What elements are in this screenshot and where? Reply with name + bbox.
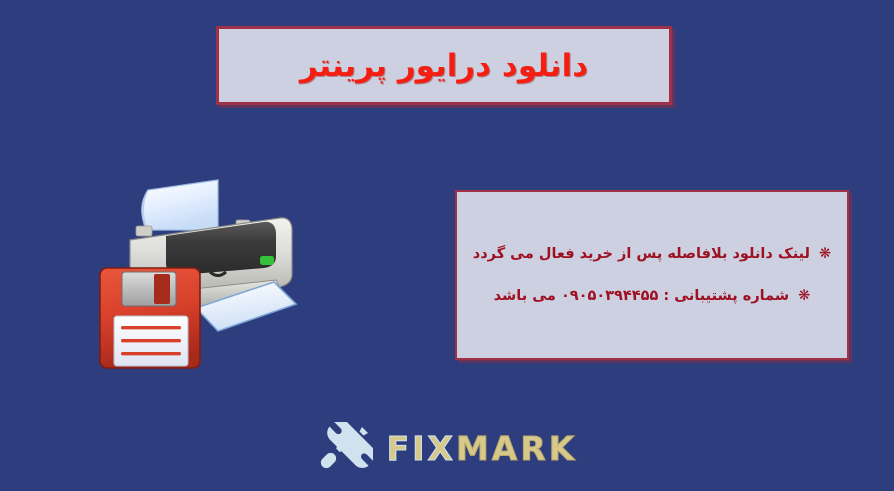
printer-input-paper xyxy=(142,180,218,230)
asterisk-icon: ❋ xyxy=(819,246,831,262)
brand-wordmark: FIX MARK xyxy=(387,432,578,465)
printer-power-led xyxy=(260,256,274,265)
brand-word-mark: MARK xyxy=(456,432,577,465)
printer-driver-illustration xyxy=(88,168,314,372)
wrench-screwdriver-icon xyxy=(317,422,373,474)
purchase-info-box: ❋ لینک دانلود بلافاصله پس از خرید فعال م… xyxy=(455,190,849,360)
info-line-support-phone-text: شماره پشتیبانی : ۰۹۰۵۰۳۹۴۴۵۵ می باشد xyxy=(494,288,789,304)
info-line-download-activation-text: لینک دانلود بلافاصله پس از خرید فعال می … xyxy=(473,246,810,262)
info-line-download-activation: ❋ لینک دانلود بلافاصله پس از خرید فعال م… xyxy=(473,246,831,262)
brand-footer: FIX MARK xyxy=(0,414,894,482)
brand-word-fix: FIX xyxy=(387,432,456,465)
slide-canvas: دانلود درایور پرینتر xyxy=(0,0,894,491)
title-banner: دانلود درایور پرینتر xyxy=(216,26,672,105)
floppy-disk-icon xyxy=(100,268,200,368)
info-line-support-phone: ❋ شماره پشتیبانی : ۰۹۰۵۰۳۹۴۴۵۵ می باشد xyxy=(494,288,811,304)
page-title: دانلود درایور پرینتر xyxy=(300,48,588,84)
asterisk-icon: ❋ xyxy=(798,288,810,304)
